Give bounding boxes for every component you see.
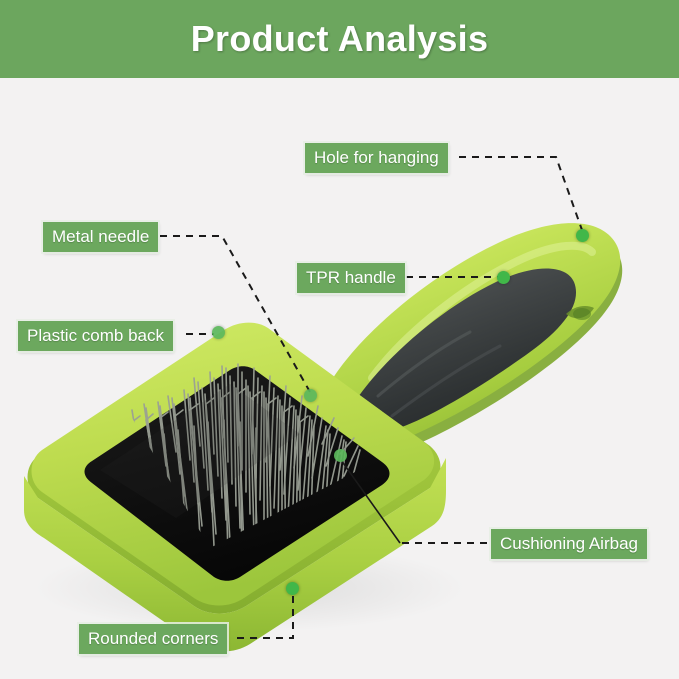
anchor-dot-tpr-handle [497,271,510,284]
anchor-dot-metal-needle [304,389,317,402]
anchor-dot-rounded-corners [286,582,299,595]
product-analysis-infographic: Product Analysis [0,0,679,679]
anchor-dot-hole-for-hanging [576,229,589,242]
callout-label-cushioning-airbag[interactable]: Cushioning Airbag [491,529,647,559]
header-banner: Product Analysis [0,0,679,78]
anchor-dot-cushioning-airbag [334,449,347,462]
page-title: Product Analysis [191,21,489,57]
callout-label-rounded-corners[interactable]: Rounded corners [79,624,227,654]
anchor-dot-plastic-comb-back [212,326,225,339]
callout-label-tpr-handle[interactable]: TPR handle [297,263,405,293]
callout-label-plastic-comb-back[interactable]: Plastic comb back [18,321,173,351]
hanging-hole-shadow [573,308,591,320]
callout-label-metal-needle[interactable]: Metal needle [43,222,158,252]
callout-label-hole-for-hanging[interactable]: Hole for hanging [305,143,448,173]
